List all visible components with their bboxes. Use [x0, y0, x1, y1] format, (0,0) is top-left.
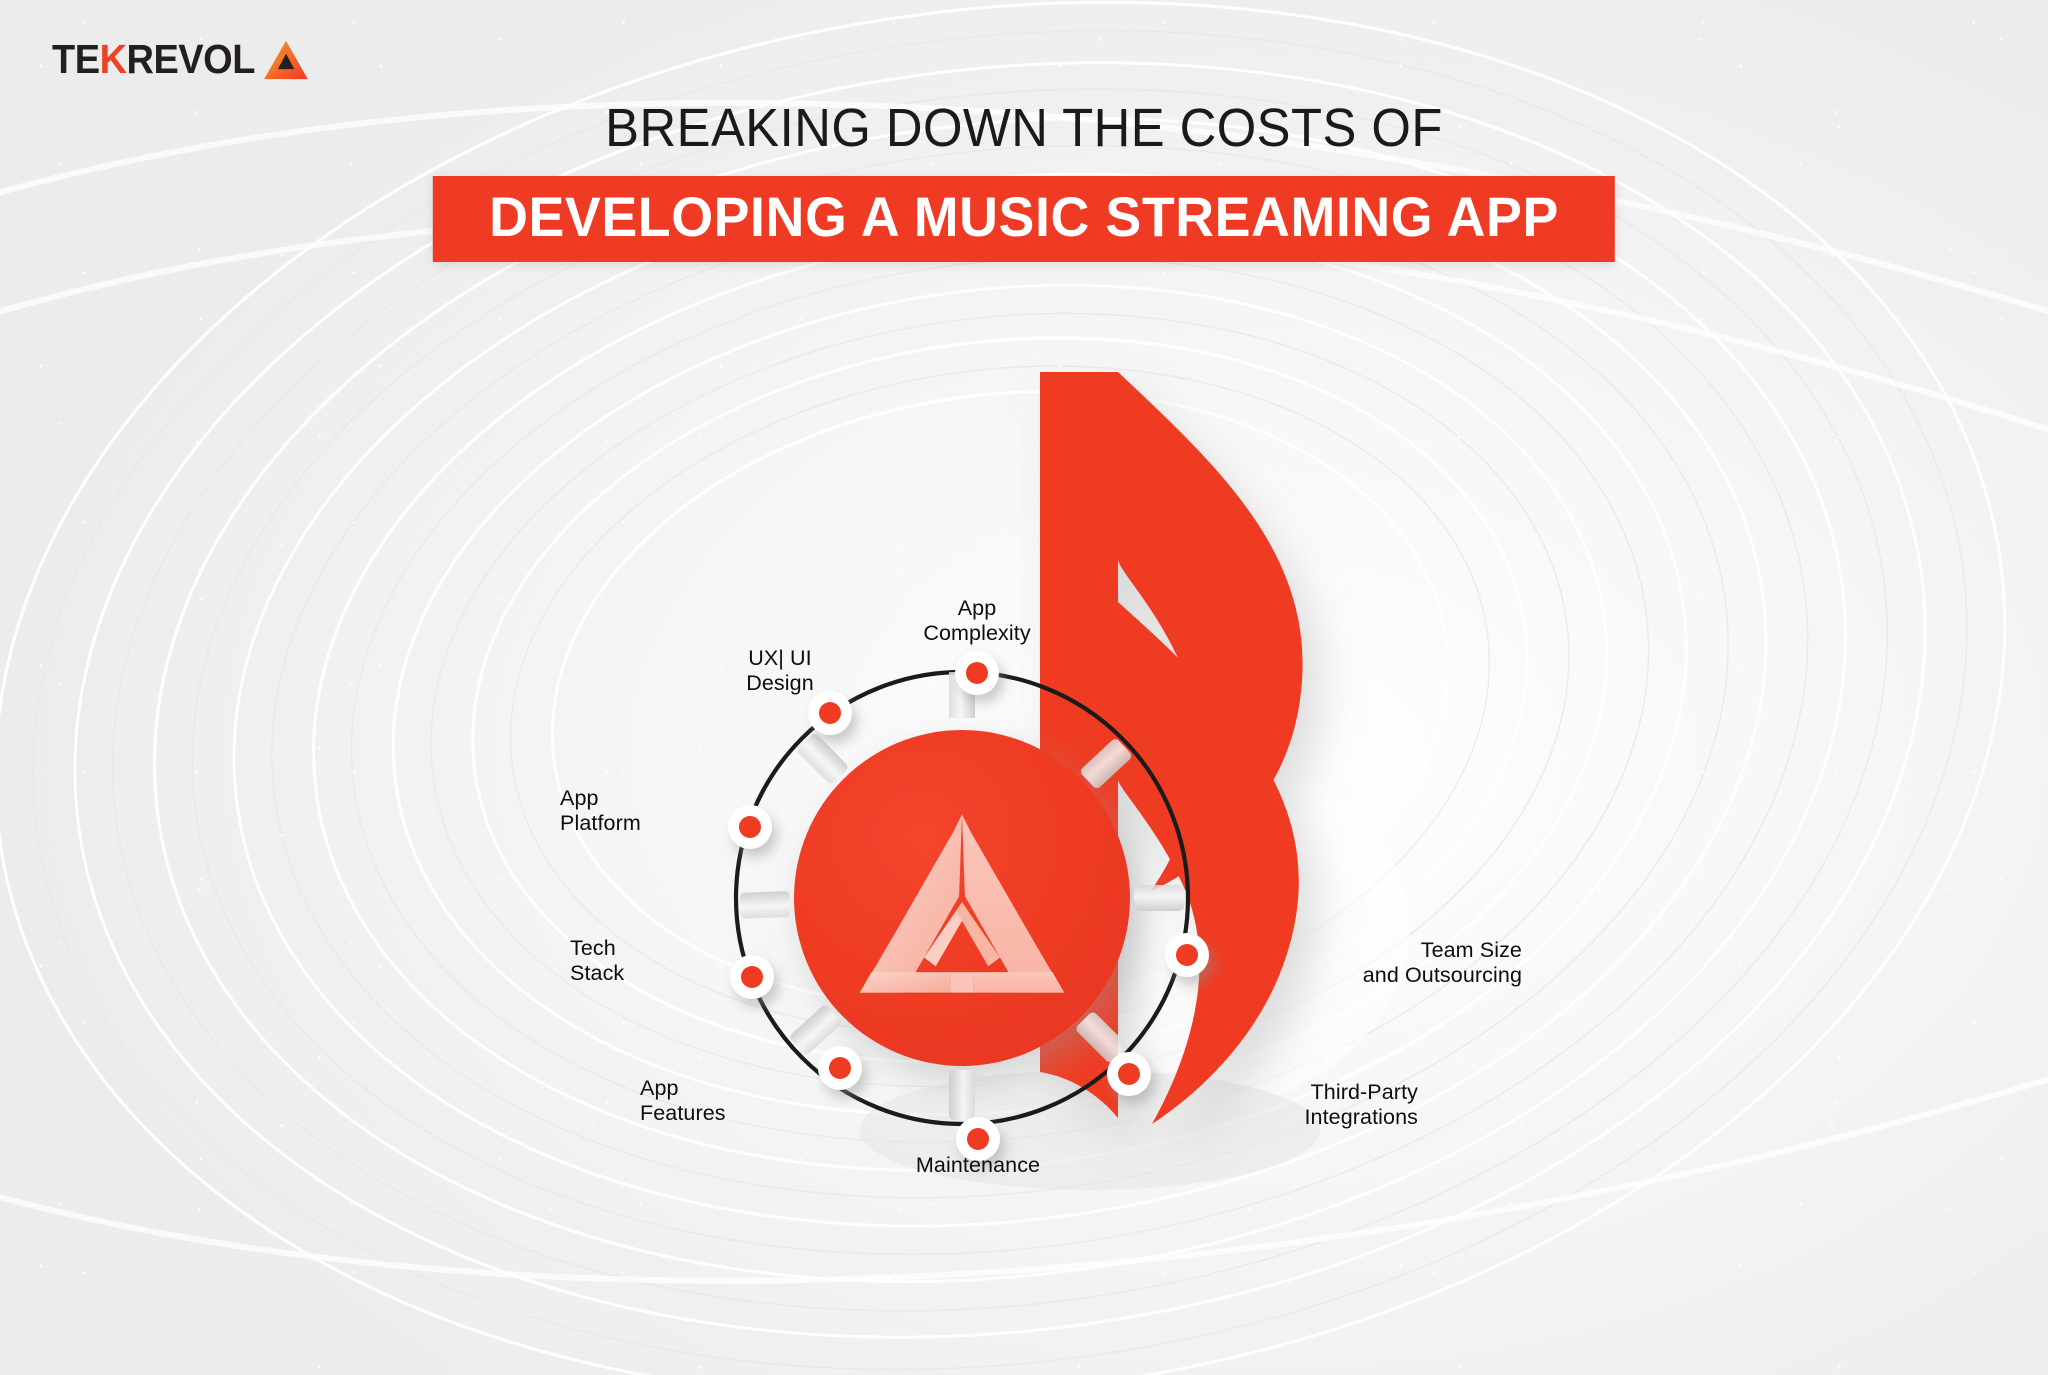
node-label-maintenance: Maintenance: [860, 1153, 1096, 1178]
infographic-canvas: TEKREVOL BREAKING DOWN THE COSTS OF DEVE…: [0, 0, 2048, 1375]
node-label-team-size-outsourcing: Team Size and Outsourcing: [1222, 938, 1522, 989]
node-marker-ux-ui-design: [808, 691, 852, 735]
node-marker-team-size-outsourcing: [1165, 933, 1209, 977]
node-label-tech-stack: Tech Stack: [570, 936, 724, 987]
node-label-app-features: App Features: [640, 1076, 812, 1127]
node-label-app-platform: App Platform: [560, 786, 724, 837]
node-label-third-party-integrations: Third-Party Integrations: [1158, 1080, 1418, 1131]
node-marker-app-complexity: [955, 651, 999, 695]
node-marker-third-party-integrations: [1107, 1052, 1151, 1096]
node-marker-app-features: [818, 1046, 862, 1090]
node-marker-app-platform: [728, 805, 772, 849]
diagram-stage: App Complexity UX| UI Design App Platfor…: [0, 0, 2048, 1375]
node-marker-tech-stack: [730, 955, 774, 999]
node-label-ux-ui-design: UX| UI Design: [690, 646, 870, 697]
node-label-app-complexity: App Complexity: [872, 596, 1082, 647]
